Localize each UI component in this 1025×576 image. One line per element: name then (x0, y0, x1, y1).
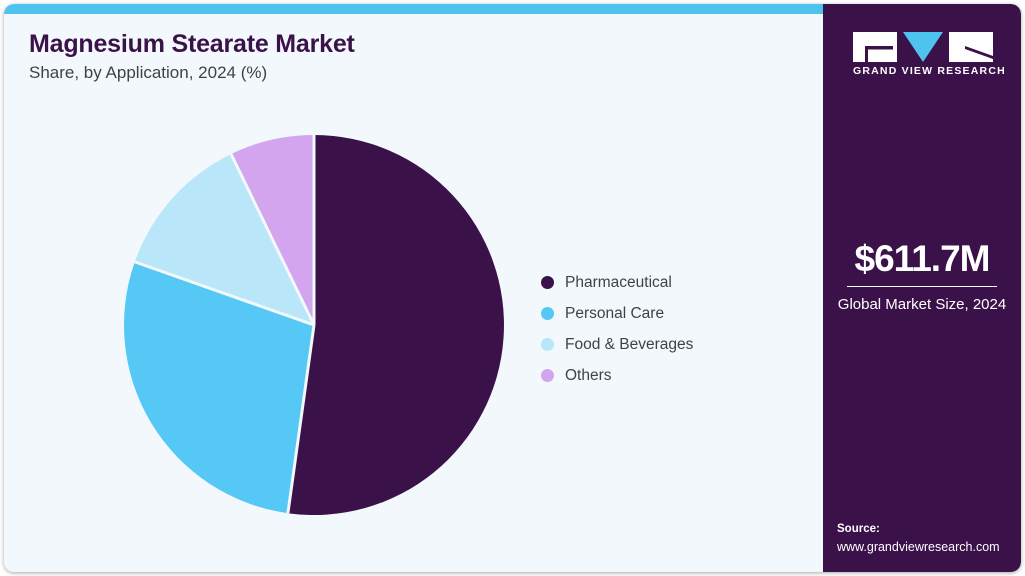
legend-item-others[interactable]: Others (541, 360, 791, 391)
legend-label-personal-care: Personal Care (565, 305, 664, 323)
market-size-stat: $611.7M Global Market Size, 2024 (831, 240, 1013, 315)
legend-swatch-food-beverages (541, 338, 554, 351)
legend-swatch-personal-care (541, 307, 554, 320)
market-size-value: $611.7M (831, 240, 1013, 279)
pie-chart-svg (122, 133, 506, 517)
legend-swatch-pharmaceutical (541, 276, 554, 289)
legend-label-pharmaceutical: Pharmaceutical (565, 274, 672, 292)
infographic-card: Magnesium Stearate Market Share, by Appl… (4, 4, 1021, 572)
top-accent-bar (4, 4, 823, 14)
infographic-root: Magnesium Stearate Market Share, by Appl… (0, 0, 1025, 576)
pie-slice-pharmaceutical (288, 135, 504, 515)
brand-logo-text: GRAND VIEW RESEARCH (853, 65, 993, 77)
legend-label-others: Others (565, 367, 612, 385)
sidebar: GRAND VIEW RESEARCH $611.7M Global Marke… (823, 4, 1021, 572)
page-title: Magnesium Stearate Market (29, 30, 355, 59)
legend-item-food-beverages[interactable]: Food & Beverages (541, 329, 791, 360)
legend-label-food-beverages: Food & Beverages (565, 336, 693, 354)
source-block: Source: www.grandviewresearch.com (837, 521, 1021, 556)
legend-swatch-others (541, 369, 554, 382)
brand-logo: GRAND VIEW RESEARCH (853, 32, 993, 80)
gvr-logo-icon (853, 32, 993, 62)
source-label: Source: (837, 521, 1021, 538)
pie-chart (122, 133, 506, 517)
chart-panel: Magnesium Stearate Market Share, by Appl… (4, 4, 823, 572)
stat-divider (847, 286, 997, 287)
market-size-caption: Global Market Size, 2024 (831, 295, 1013, 315)
source-url[interactable]: www.grandviewresearch.com (837, 539, 1021, 557)
gvr-logo-svg (853, 32, 993, 62)
page-subtitle: Share, by Application, 2024 (%) (29, 63, 267, 83)
chart-legend: Pharmaceutical Personal Care Food & Beve… (541, 267, 791, 391)
legend-item-pharmaceutical[interactable]: Pharmaceutical (541, 267, 791, 298)
legend-item-personal-care[interactable]: Personal Care (541, 298, 791, 329)
